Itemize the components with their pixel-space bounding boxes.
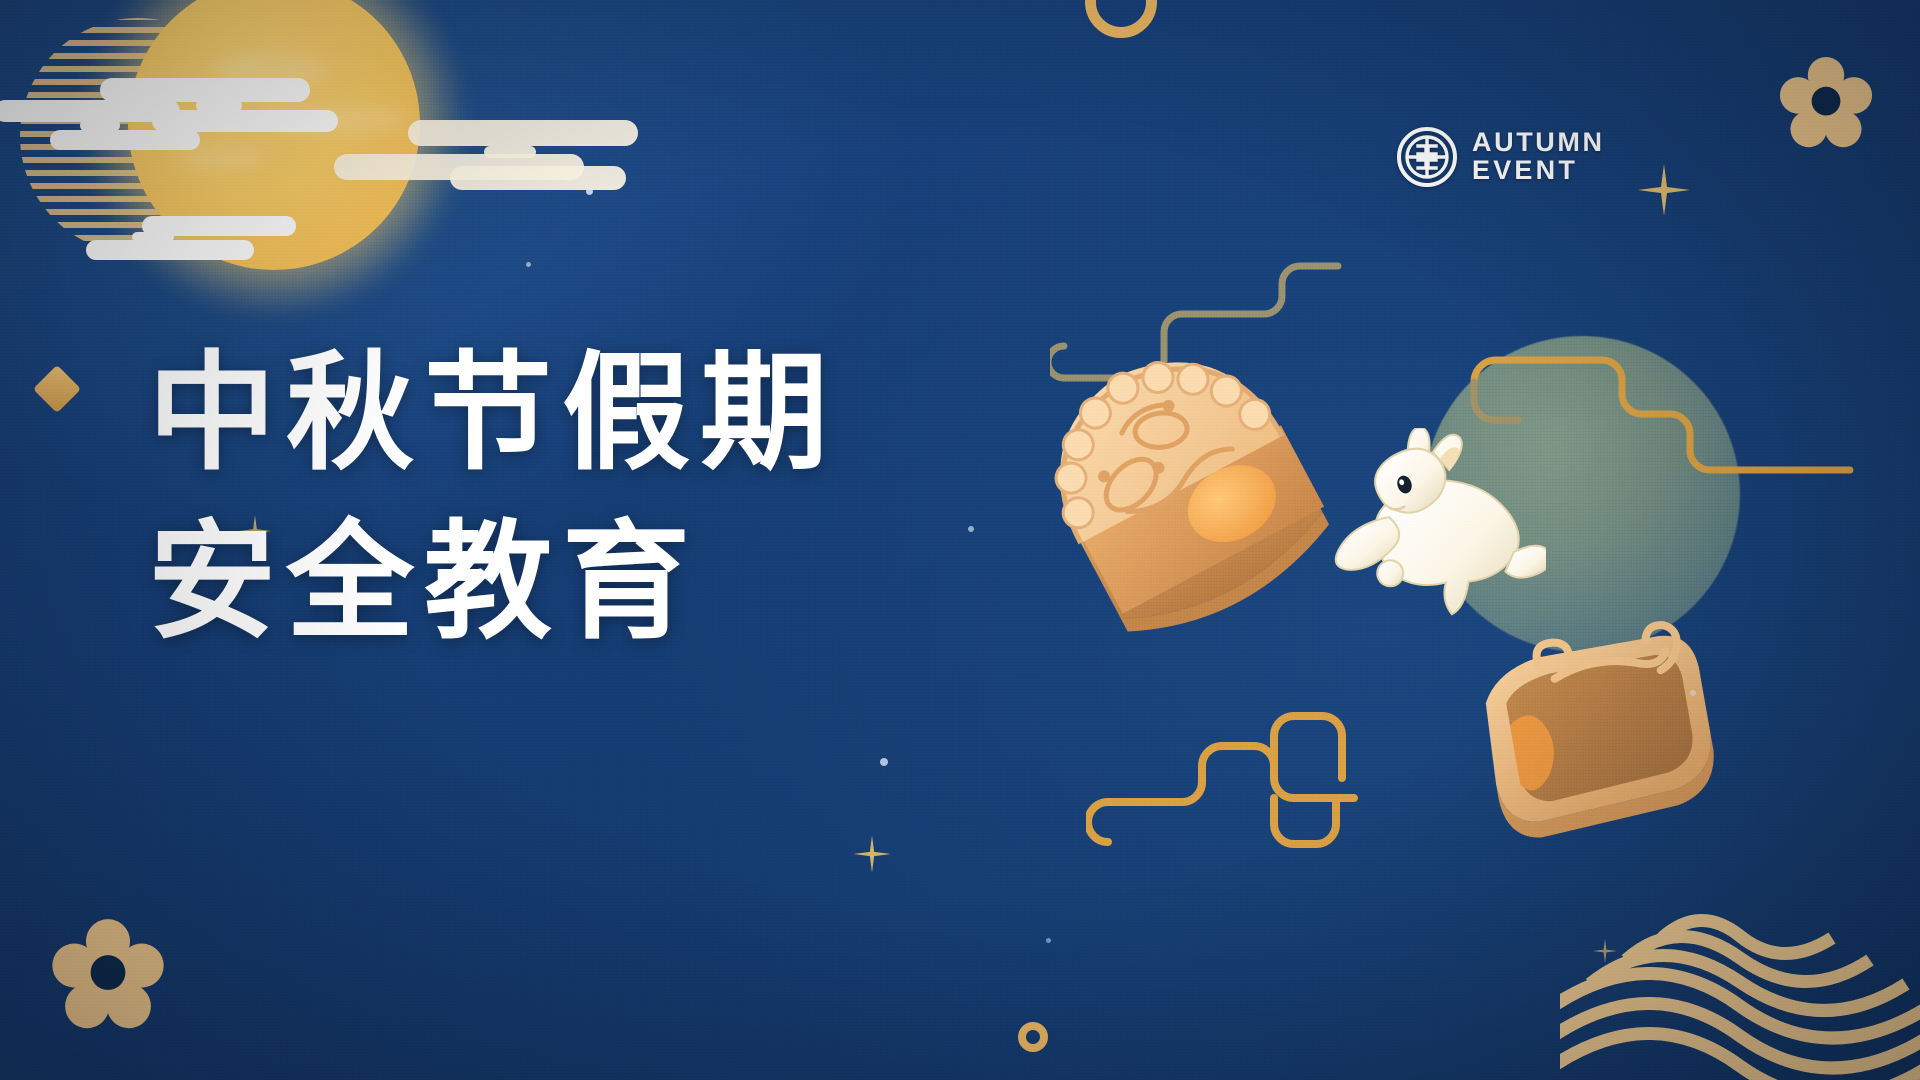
- logo-line-2: EVENT: [1472, 157, 1605, 185]
- flower-top-right-icon: [1778, 56, 1874, 152]
- star-dot: [526, 262, 531, 267]
- sparkle-bottom-center-icon: [852, 834, 892, 874]
- star-dot: [586, 188, 593, 195]
- gold-ring-bottom-icon: [1018, 1022, 1048, 1052]
- shou-longevity-emblem-icon: [1396, 126, 1458, 188]
- logo-line-1: AUTUMN: [1472, 129, 1605, 157]
- sparkle-top-right-icon: [1636, 162, 1692, 218]
- gold-diamond-icon: [33, 365, 81, 413]
- star-dot: [968, 526, 974, 532]
- logo-wordmark: AUTUMN EVENT: [1472, 129, 1605, 184]
- autumn-event-logo[interactable]: AUTUMN EVENT: [1396, 126, 1605, 188]
- meander-bottom-icon: [1086, 710, 1386, 870]
- star-dot: [1046, 938, 1051, 943]
- jade-rabbit-graphic: [1306, 428, 1546, 633]
- wave-stripe-arc-decoration: [1560, 880, 1920, 1080]
- star-dot: [1690, 690, 1696, 696]
- cloud-right-of-moon: [334, 120, 644, 194]
- mooncake-wedge-slice-graphic: [1468, 614, 1728, 844]
- star-dot: [880, 758, 888, 766]
- gold-ring-top-icon: [1085, 0, 1157, 38]
- page-title: 中秋节假期 安全教育: [148, 330, 838, 668]
- mid-autumn-cover-slide: AUTUMN EVENT 中秋节假期 安全教育: [0, 0, 1920, 1080]
- cloud-lower-left: [86, 216, 306, 266]
- flower-bottom-left-icon: [50, 918, 166, 1034]
- title-line-2: 安全教育: [148, 499, 838, 668]
- title-line-1: 中秋节假期: [148, 330, 838, 499]
